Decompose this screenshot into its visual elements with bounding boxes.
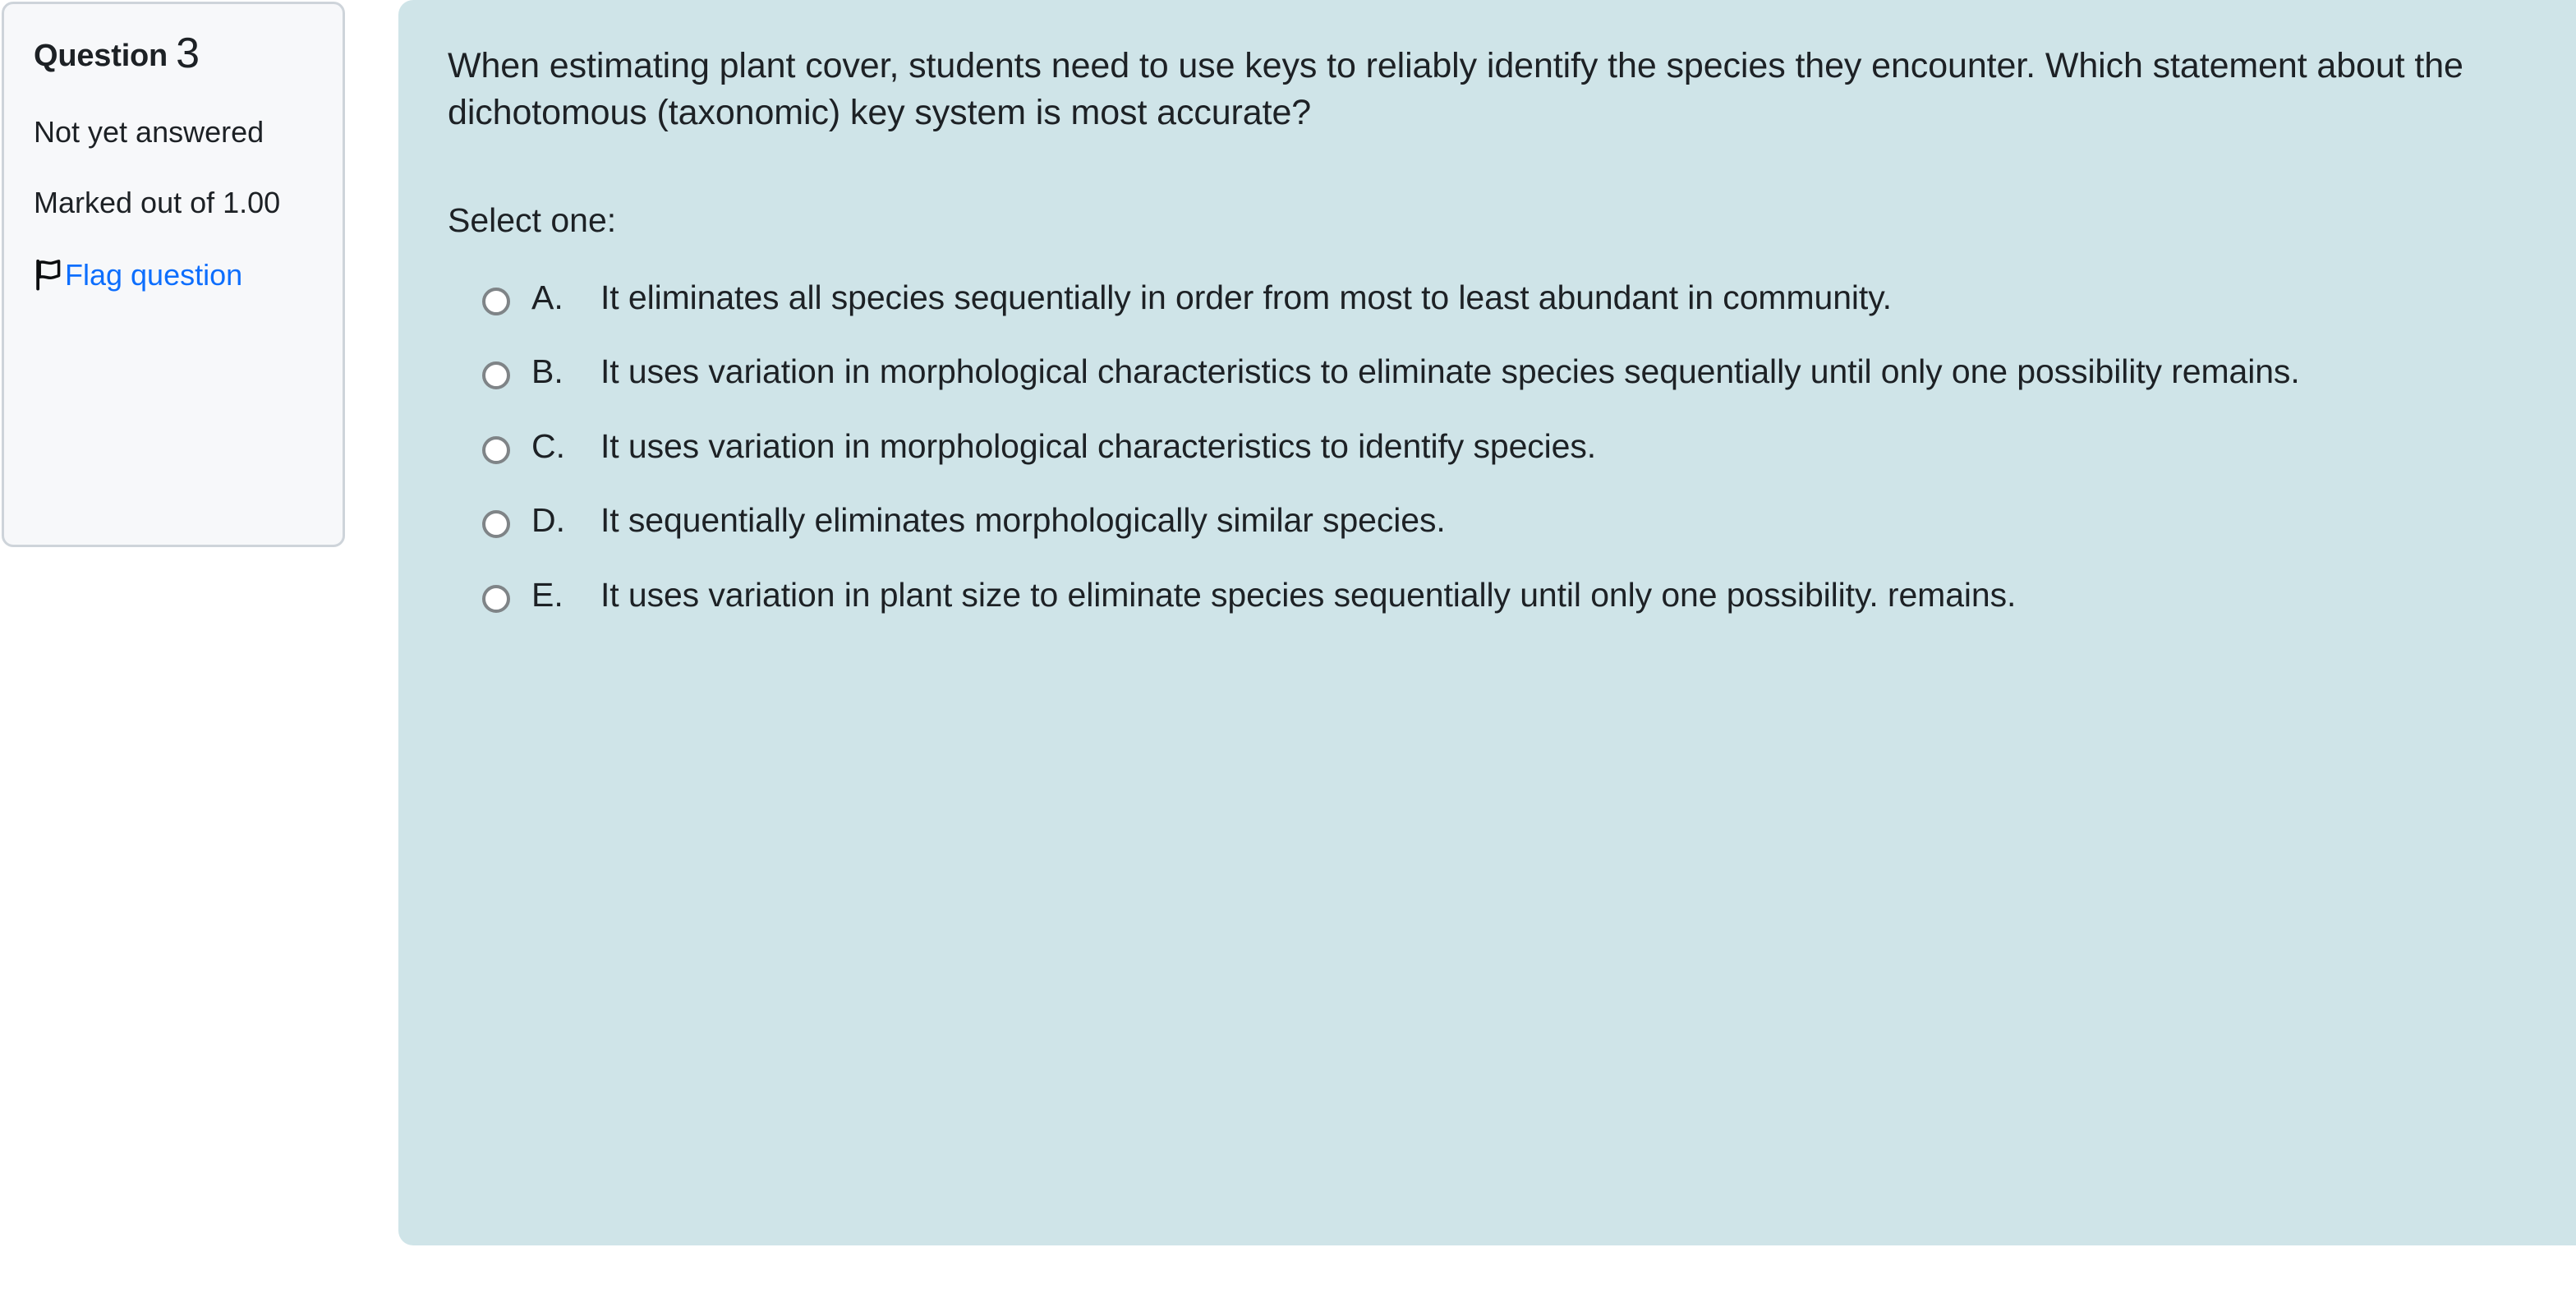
question-header: Question3 (34, 30, 320, 77)
answer-option-b[interactable]: B. It uses variation in morphological ch… (482, 348, 2527, 395)
answer-option-a[interactable]: A. It eliminates all species sequentiall… (482, 274, 2527, 321)
question-state: Not yet answered (34, 113, 305, 151)
question-marks: Marked out of 1.00 (34, 184, 305, 222)
radio-button-a[interactable] (482, 288, 510, 315)
flag-question-label: Flag question (65, 258, 242, 292)
select-one-prompt: Select one: (448, 199, 2527, 242)
answer-letter-a: A. (531, 274, 600, 321)
flag-icon (34, 260, 63, 291)
answer-text-d: It sequentially eliminates morphological… (600, 497, 1446, 544)
question-number: 3 (176, 30, 200, 77)
answer-text-b: It uses variation in morphological chara… (600, 348, 2300, 395)
radio-button-c[interactable] (482, 436, 510, 464)
flag-question-link[interactable]: Flag question (34, 256, 305, 294)
answer-text-a: It eliminates all species sequentially i… (600, 274, 1892, 321)
radio-button-b[interactable] (482, 361, 510, 389)
question-content-panel: When estimating plant cover, students ne… (398, 0, 2576, 1245)
answer-letter-d: D. (531, 497, 600, 544)
question-header-label: Question (34, 39, 168, 73)
question-info-panel: Question3 Not yet answered Marked out of… (2, 2, 345, 547)
answer-letter-e: E. (531, 572, 600, 619)
answer-option-d[interactable]: D. It sequentially eliminates morphologi… (482, 497, 2527, 544)
answer-letter-b: B. (531, 348, 600, 395)
radio-button-d[interactable] (482, 510, 510, 538)
radio-button-e[interactable] (482, 585, 510, 613)
question-text: When estimating plant cover, students ne… (448, 43, 2485, 136)
answer-text-c: It uses variation in morphological chara… (600, 423, 1596, 470)
answer-option-c[interactable]: C. It uses variation in morphological ch… (482, 423, 2527, 470)
answer-letter-c: C. (531, 423, 600, 470)
answer-text-e: It uses variation in plant size to elimi… (600, 572, 2016, 619)
answer-option-e[interactable]: E. It uses variation in plant size to el… (482, 572, 2527, 619)
quiz-question-page: Question3 Not yet answered Marked out of… (0, 0, 2576, 1298)
answer-options-list: A. It eliminates all species sequentiall… (482, 274, 2527, 619)
